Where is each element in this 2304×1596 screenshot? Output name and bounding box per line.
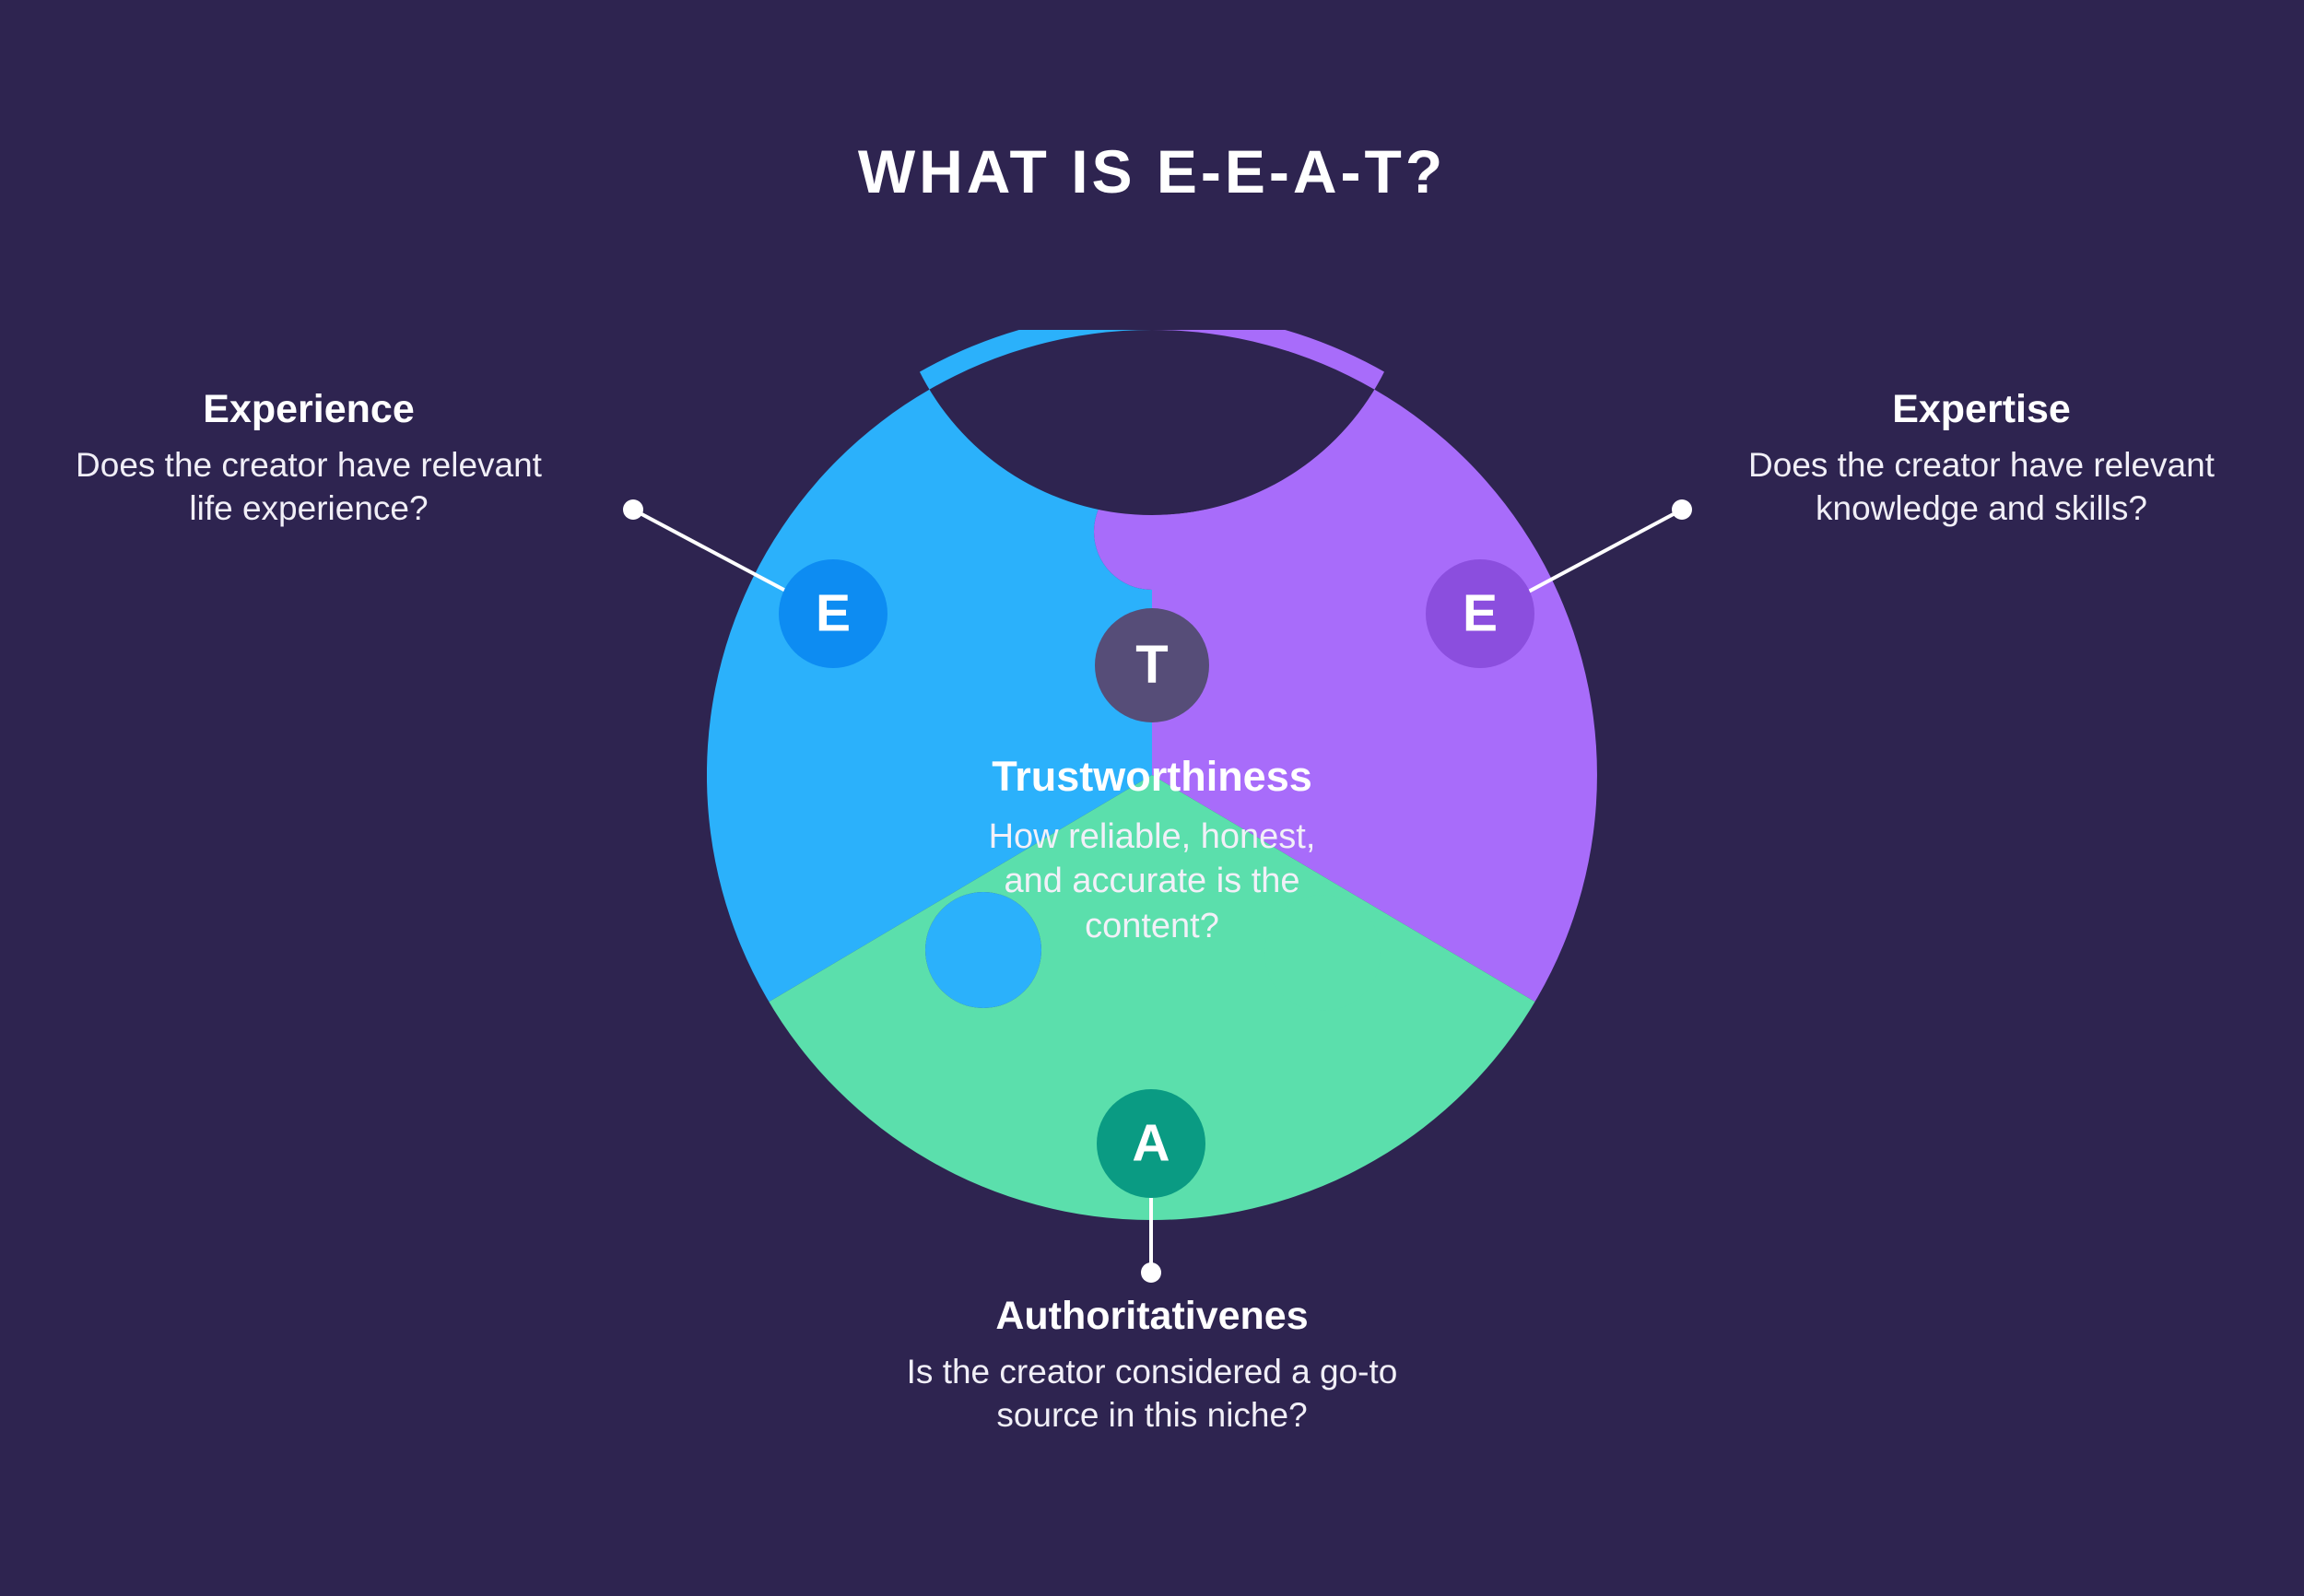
callout-expertise-description: Does the creator have relevant knowledge… xyxy=(1723,444,2239,530)
callout-experience: Experience Does the creator have relevan… xyxy=(55,387,562,530)
trustworthiness-title: Trustworthiness xyxy=(857,754,1447,800)
callout-experience-description: Does the creator have relevant life expe… xyxy=(55,444,562,530)
callout-expertise-title: Expertise xyxy=(1723,387,2239,431)
callout-authoritativeness-description: Is the creator considered a go-to source… xyxy=(857,1351,1447,1437)
trustworthiness-description: How reliable, honest, and accurate is th… xyxy=(958,815,1346,949)
callout-experience-title: Experience xyxy=(55,387,562,431)
badge-expertise[interactable]: E xyxy=(1426,559,1534,668)
callout-expertise: Expertise Does the creator have relevant… xyxy=(1723,387,2239,530)
badge-experience[interactable]: E xyxy=(779,559,888,668)
connector-dot-authoritativeness xyxy=(1141,1262,1161,1283)
badge-trustworthiness[interactable]: T xyxy=(1095,608,1209,722)
badge-expertise-letter: E xyxy=(1426,588,1534,640)
badge-authoritativeness[interactable]: A xyxy=(1097,1089,1205,1198)
connector-dot-experience xyxy=(623,499,643,520)
callout-authoritativeness-title: Authoritativenes xyxy=(857,1294,1447,1338)
connector-dot-expertise xyxy=(1672,499,1692,520)
trustworthiness-center: T Trustworthiness How reliable, honest, … xyxy=(857,608,1447,948)
page-title: WHAT IS E-E-A-T? xyxy=(0,140,2304,204)
badge-experience-letter: E xyxy=(779,588,888,640)
callout-authoritativeness: Authoritativenes Is the creator consider… xyxy=(857,1294,1447,1437)
badge-authoritativeness-letter: A xyxy=(1097,1118,1205,1170)
infographic-canvas: WHAT IS E-E-A-T? xyxy=(0,0,2304,1596)
badge-trustworthiness-letter: T xyxy=(1095,639,1209,692)
